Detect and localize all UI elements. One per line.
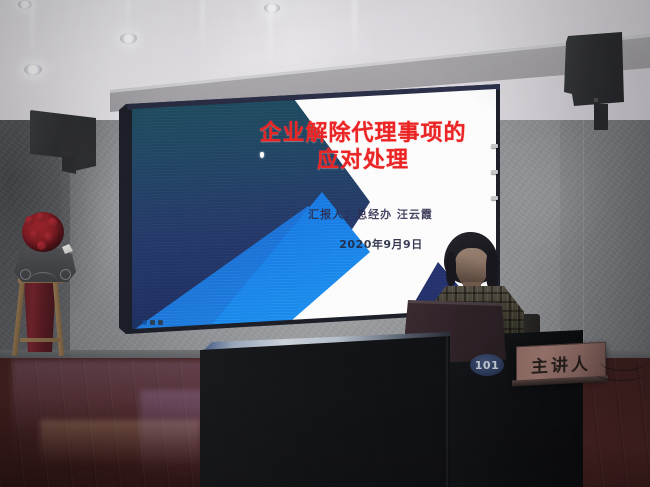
light-streak-1 [30,0,35,66]
light-streak-2 [126,0,131,36]
slide-title: 企业解除代理事项的 应对处理 [238,120,488,174]
speaker-right-bracket [594,104,608,130]
light-streak-4 [268,6,273,66]
windows-taskbar[interactable] [134,320,163,325]
slide-title-line-1: 企业解除代理事项的 [259,121,466,146]
room-photo-scene: 企业解除代理事项的 应对处理 汇报人：总经办 汪云霞 2020年9月9日 [0,0,650,487]
nameplate-text: 主讲人 [531,349,591,377]
hair-strand-right [486,250,498,290]
speaker-left-bracket [62,156,76,174]
wall-speaker-right [564,32,624,106]
light-streak-5 [352,0,357,62]
flower-petal-2 [36,213,45,222]
flower-petal-1 [25,216,34,225]
flower-petal-5 [44,232,53,241]
slide-presenter-line: 汇报人：总经办 汪云霞 [258,206,483,222]
flower-petal-3 [48,218,57,227]
flower-petal-6 [37,241,46,250]
hair-strand-left [446,252,456,286]
display-mount-clip-3 [491,196,498,200]
podium [200,336,450,487]
display-mount-clip-2 [491,170,498,174]
plaque-ring-right [60,269,71,280]
speaker-right-port [594,98,598,102]
light-streak-3 [200,0,205,58]
slide-title-line-2: 应对处理 [238,147,488,174]
browser-icon[interactable] [142,320,147,325]
cable-2 [596,366,646,381]
room-number-text: 101 [475,359,499,372]
room-number-badge: 101 [470,354,504,376]
folder-icon[interactable] [150,320,155,325]
windows-icon[interactable] [134,320,139,325]
stand-rail [20,338,60,342]
podium-seam [446,336,448,487]
app-icon[interactable] [158,320,163,325]
display-mount-clip-1 [491,144,498,148]
flower-petal-4 [30,230,39,239]
